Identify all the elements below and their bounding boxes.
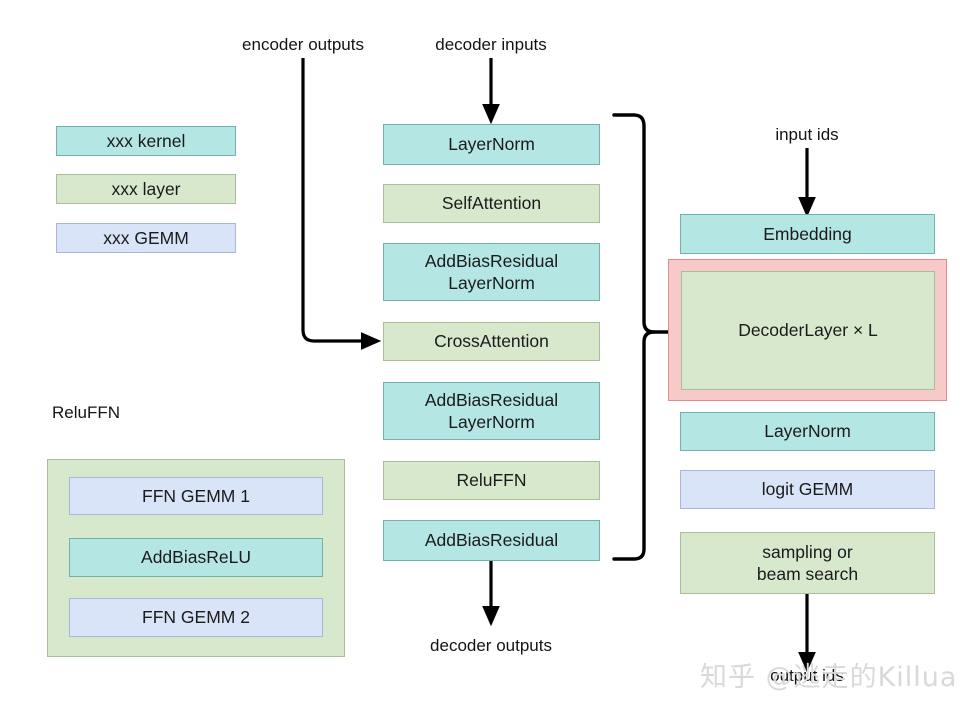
watermark-text: 知乎 @逃走的Killua: [700, 655, 957, 694]
decoding-node-decoderlayer: DecoderLayer × L: [681, 271, 935, 390]
decoder-inputs-label: decoder inputs: [391, 34, 591, 55]
decoding-node-layernorm: LayerNorm: [680, 412, 935, 451]
decoder-outputs-label: decoder outputs: [391, 635, 591, 656]
decoder-node-addbiasresidual: AddBiasResidual: [383, 520, 600, 561]
decoder-node-addbiasresidual-layernorm-1: AddBiasResidual LayerNorm: [383, 243, 600, 301]
decoder-group-brace: [614, 115, 654, 559]
arrow-encoder-outputs: [303, 58, 371, 341]
relu-ffn-addbiasrelu: AddBiasReLU: [69, 538, 323, 577]
relu-ffn-caption: ReluFFN: [52, 402, 252, 423]
encoder-outputs-label: encoder outputs: [203, 34, 403, 55]
decoder-node-addbiasresidual-layernorm-2: AddBiasResidual LayerNorm: [383, 382, 600, 440]
legend-item-gemm: xxx GEMM: [56, 223, 236, 253]
decoder-node-reluffn: ReluFFN: [383, 461, 600, 500]
decoder-node-crossattention: CrossAttention: [383, 322, 600, 361]
decoding-node-sampling: sampling or beam search: [680, 532, 935, 594]
decoder-node-selfattention: SelfAttention: [383, 184, 600, 223]
decoding-node-embedding: Embedding: [680, 214, 935, 254]
decoder-node-layernorm-1: LayerNorm: [383, 124, 600, 165]
legend-item-layer: xxx layer: [56, 174, 236, 204]
relu-ffn-gemm-1: FFN GEMM 1: [69, 477, 323, 515]
legend-item-kernel: xxx kernel: [56, 126, 236, 156]
input-ids-label: input ids: [707, 124, 907, 145]
decoding-node-logit-gemm: logit GEMM: [680, 470, 935, 509]
diagram-canvas: xxx kernel xxx layer xxx GEMM ReluFFN FF…: [0, 0, 977, 716]
relu-ffn-gemm-2: FFN GEMM 2: [69, 598, 323, 637]
